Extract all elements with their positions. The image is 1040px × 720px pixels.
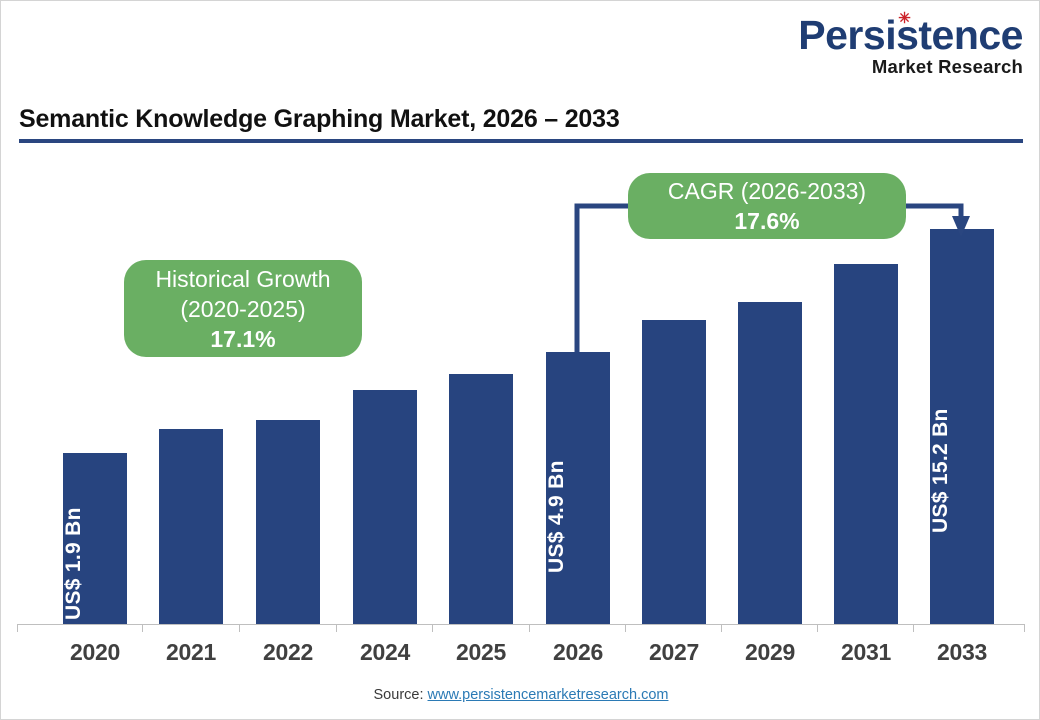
- bar-2025: [449, 374, 513, 624]
- x-axis-label-2024: 2024: [340, 639, 430, 666]
- axis-tick: [336, 624, 337, 632]
- cagr-line1: CAGR (2026-2033): [668, 176, 866, 206]
- axis-tick: [721, 624, 722, 632]
- historical-growth-line1: Historical Growth: [155, 264, 330, 294]
- historical-growth-callout: Historical Growth (2020-2025) 17.1%: [124, 260, 362, 357]
- bar-2031: [834, 264, 898, 624]
- x-axis-label-2033: 2033: [917, 639, 1007, 666]
- cagr-value: 17.6%: [734, 206, 799, 236]
- x-axis-label-2021: 2021: [146, 639, 236, 666]
- axis-tick: [432, 624, 433, 632]
- axis-tick: [142, 624, 143, 632]
- source-link[interactable]: www.persistencemarketresearch.com: [428, 687, 669, 703]
- x-axis-label-2020: 2020: [50, 639, 140, 666]
- x-axis-label-2027: 2027: [629, 639, 719, 666]
- cagr-callout: CAGR (2026-2033) 17.6%: [628, 173, 906, 239]
- bar-2024: [353, 390, 417, 624]
- bar-value-label-2033: US$ 15.2 Bn: [929, 408, 953, 533]
- bar-2029: [738, 302, 802, 624]
- source-prefix: Source:: [374, 687, 428, 703]
- bar-value-label-2020: US$ 1.9 Bn: [62, 507, 86, 620]
- axis-tick: [913, 624, 914, 632]
- x-axis-label-2029: 2029: [725, 639, 815, 666]
- bar-2027: [642, 320, 706, 624]
- historical-growth-line2: (2020-2025): [180, 294, 305, 324]
- bar-2021: [159, 429, 223, 624]
- axis-tick: [17, 624, 18, 632]
- x-axis-label-2022: 2022: [243, 639, 333, 666]
- bar-2022: [256, 420, 320, 624]
- x-axis-line: [17, 624, 1025, 625]
- x-axis-label-2025: 2025: [436, 639, 526, 666]
- axis-tick: [625, 624, 626, 632]
- x-axis-label-2026: 2026: [533, 639, 623, 666]
- source-line: Source: www.persistencemarketresearch.co…: [1, 687, 1040, 703]
- chart-plot-area: US$ 1.9 Bn US$ 4.9 Bn US$ 15.2 Bn 2020 2…: [1, 1, 1040, 720]
- x-axis-label-2031: 2031: [821, 639, 911, 666]
- axis-tick: [239, 624, 240, 632]
- axis-tick: [817, 624, 818, 632]
- axis-tick: [529, 624, 530, 632]
- axis-tick: [1024, 624, 1025, 632]
- historical-growth-value: 17.1%: [210, 324, 275, 354]
- bar-value-label-2026: US$ 4.9 Bn: [545, 460, 569, 573]
- chart-page: ✳ Persistence Market Research Semantic K…: [0, 0, 1040, 720]
